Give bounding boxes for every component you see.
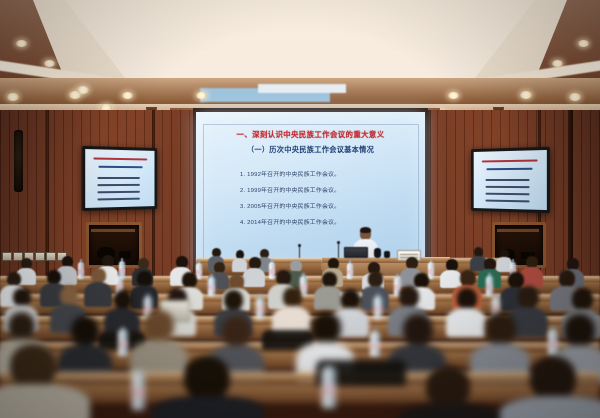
downlight-icon: [7, 93, 19, 101]
slide-item-1: 1. 1992年召开的中央民族工作会议。: [240, 169, 340, 178]
foreground-torso: [0, 384, 90, 418]
outlet-plate: [35, 252, 45, 261]
audience-head: [460, 270, 476, 286]
audience-head: [518, 286, 539, 308]
foreground-torso: [152, 396, 264, 418]
left-wall-monitor: [82, 146, 157, 211]
wall-speaker-icon: [14, 130, 23, 192]
right-monitor-display: [474, 150, 547, 210]
laptop-screen: [345, 248, 367, 257]
audience-head: [341, 289, 360, 309]
downlight-icon: [122, 92, 133, 99]
audience-head: [564, 314, 595, 346]
audience-head: [559, 270, 575, 287]
audience-head: [8, 312, 35, 340]
slide-item-2: 2. 1999年召开的中央民族工作会议。: [240, 185, 340, 194]
monitor-item-line: [486, 193, 530, 196]
audience-head: [485, 312, 516, 344]
downlight-icon: [77, 86, 89, 94]
audience-head: [144, 310, 174, 341]
foreground-head: [530, 356, 576, 400]
outlet-plate: [46, 252, 56, 261]
water-bottle: [132, 372, 145, 410]
monitor-heading-line: [482, 159, 538, 162]
ceiling-diffuser-panel: [258, 84, 346, 93]
microphone-icon: [298, 244, 301, 247]
alcove-shelf: [91, 229, 135, 232]
monitor-subheading-line: [98, 166, 142, 168]
audience-head: [276, 270, 291, 285]
audience-head: [322, 272, 337, 287]
downlight-icon: [552, 60, 563, 67]
slide-item-3: 3. 2005年召开的中央民族工作会议。: [240, 201, 340, 210]
audience-head: [224, 290, 243, 310]
monitor-item-line: [486, 186, 530, 188]
audience-head: [91, 268, 106, 283]
water-bottle: [370, 332, 380, 357]
water-bottle: [347, 263, 353, 279]
monitor-heading-line: [93, 157, 147, 160]
audience-head: [13, 288, 31, 306]
audience-head: [399, 286, 419, 307]
audience-head: [283, 287, 302, 307]
desk-object: [374, 248, 381, 258]
audience-head: [229, 274, 244, 289]
audience-head: [71, 316, 99, 345]
right-wall-monitor: [471, 147, 550, 214]
monitor-subheading-line: [486, 168, 532, 170]
foreground-person: [152, 356, 264, 418]
audience-head: [137, 271, 152, 286]
left-monitor-display: [85, 149, 154, 208]
foreground-torso: [500, 396, 600, 418]
audience-head: [457, 288, 477, 309]
foreground-person: [0, 344, 90, 418]
foreground-head: [10, 344, 56, 388]
monitor-item-line: [97, 184, 139, 186]
slide-item-4: 4. 2014年召开的中央民族工作会议。: [240, 217, 340, 226]
water-bottle: [118, 330, 128, 356]
monitor-item-line: [97, 177, 139, 179]
audience-head: [7, 272, 21, 286]
audience-head: [311, 312, 341, 343]
downlight-icon: [448, 92, 459, 99]
monitor-item-line: [97, 191, 139, 194]
microphone-icon: [337, 241, 340, 244]
downlight-icon: [44, 60, 55, 67]
water-bottle: [486, 276, 493, 296]
slide-heading: 一、深刻认识中央民族工作会议的重大意义: [196, 129, 425, 140]
downlight-icon: [196, 92, 207, 99]
audience-head: [60, 286, 78, 305]
audience-head: [222, 316, 251, 346]
water-bottle: [548, 330, 558, 356]
monitor-item-line: [97, 198, 139, 201]
foreground-head: [184, 356, 230, 400]
downlight-icon: [16, 40, 27, 47]
alcove-shelf: [497, 229, 539, 232]
audience-head: [114, 290, 132, 309]
presenter-hair: [360, 227, 371, 233]
desk-object: [384, 251, 390, 258]
downlight-icon: [578, 40, 589, 47]
audience-head: [182, 272, 197, 288]
audience-head: [47, 270, 61, 284]
laptop: [344, 247, 368, 258]
foreground-person: [500, 356, 600, 418]
foreground-head: [426, 366, 470, 408]
foreground-torso: [398, 404, 502, 418]
audience-head: [368, 271, 383, 287]
slide-subheading: （一）历次中央民族工作会议基本情况: [196, 145, 425, 155]
monitor-item-line: [486, 200, 530, 203]
projection-screen: 一、深刻认识中央民族工作会议的重大意义 （一）历次中央民族工作会议基本情况 1.…: [196, 112, 425, 270]
conference-hall-photo: 一、深刻认识中央民族工作会议的重大意义 （一）历次中央民族工作会议基本情况 1.…: [0, 0, 600, 418]
downlight-icon: [520, 91, 532, 99]
audience-head: [572, 288, 593, 310]
outlet-plate: [2, 252, 12, 261]
water-bottle: [322, 368, 336, 408]
water-bottle: [374, 297, 382, 319]
downlight-icon: [569, 93, 581, 101]
monitor-item-line: [486, 179, 530, 181]
foreground-person: [398, 366, 502, 418]
audience-head: [403, 314, 433, 345]
microphone-stand: [338, 243, 339, 258]
